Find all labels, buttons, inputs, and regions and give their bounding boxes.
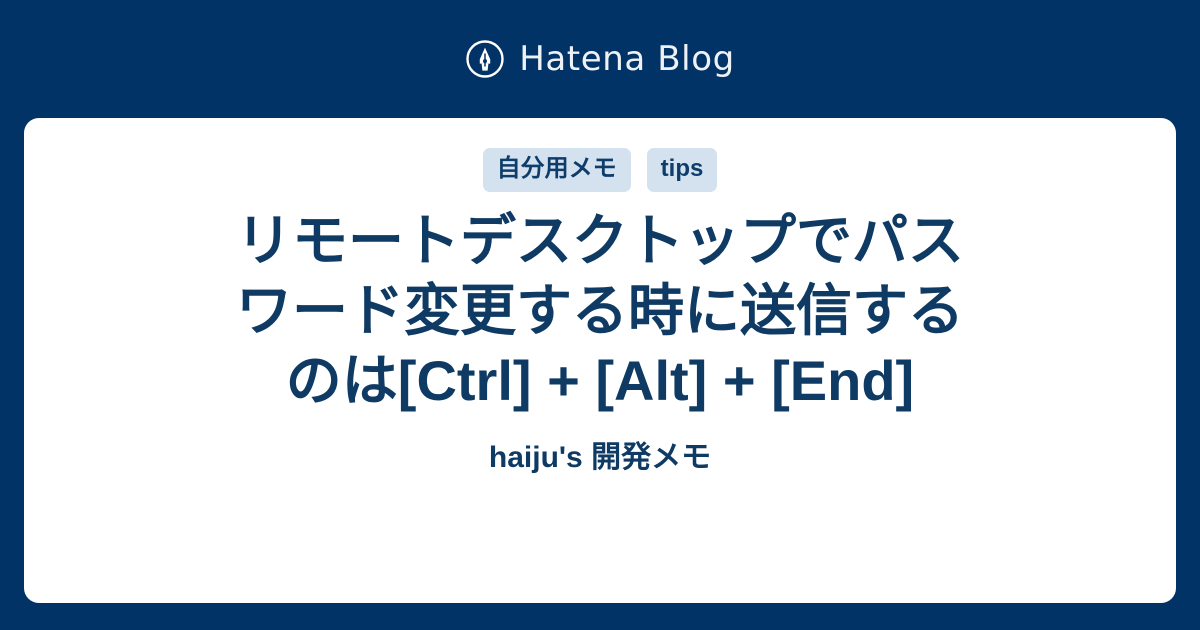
tag-item[interactable]: 自分用メモ <box>483 148 631 192</box>
blog-name: haiju's 開発メモ <box>489 440 711 476</box>
og-image-card: Hatena Blog 自分用メモ tips リモートデスクトップでパスワード変… <box>0 0 1200 630</box>
tag-list: 自分用メモ tips <box>483 148 718 192</box>
brand-name: Hatena Blog <box>519 42 735 76</box>
entry-title: リモートデスクトップでパスワード変更する時に送信するのは[Ctrl] + [Al… <box>180 206 1020 416</box>
tag-item[interactable]: tips <box>647 148 718 192</box>
pen-nib-in-circle-icon <box>465 39 505 79</box>
entry-card: 自分用メモ tips リモートデスクトップでパスワード変更する時に送信するのは[… <box>24 118 1176 603</box>
brand-header: Hatena Blog <box>0 0 1200 118</box>
